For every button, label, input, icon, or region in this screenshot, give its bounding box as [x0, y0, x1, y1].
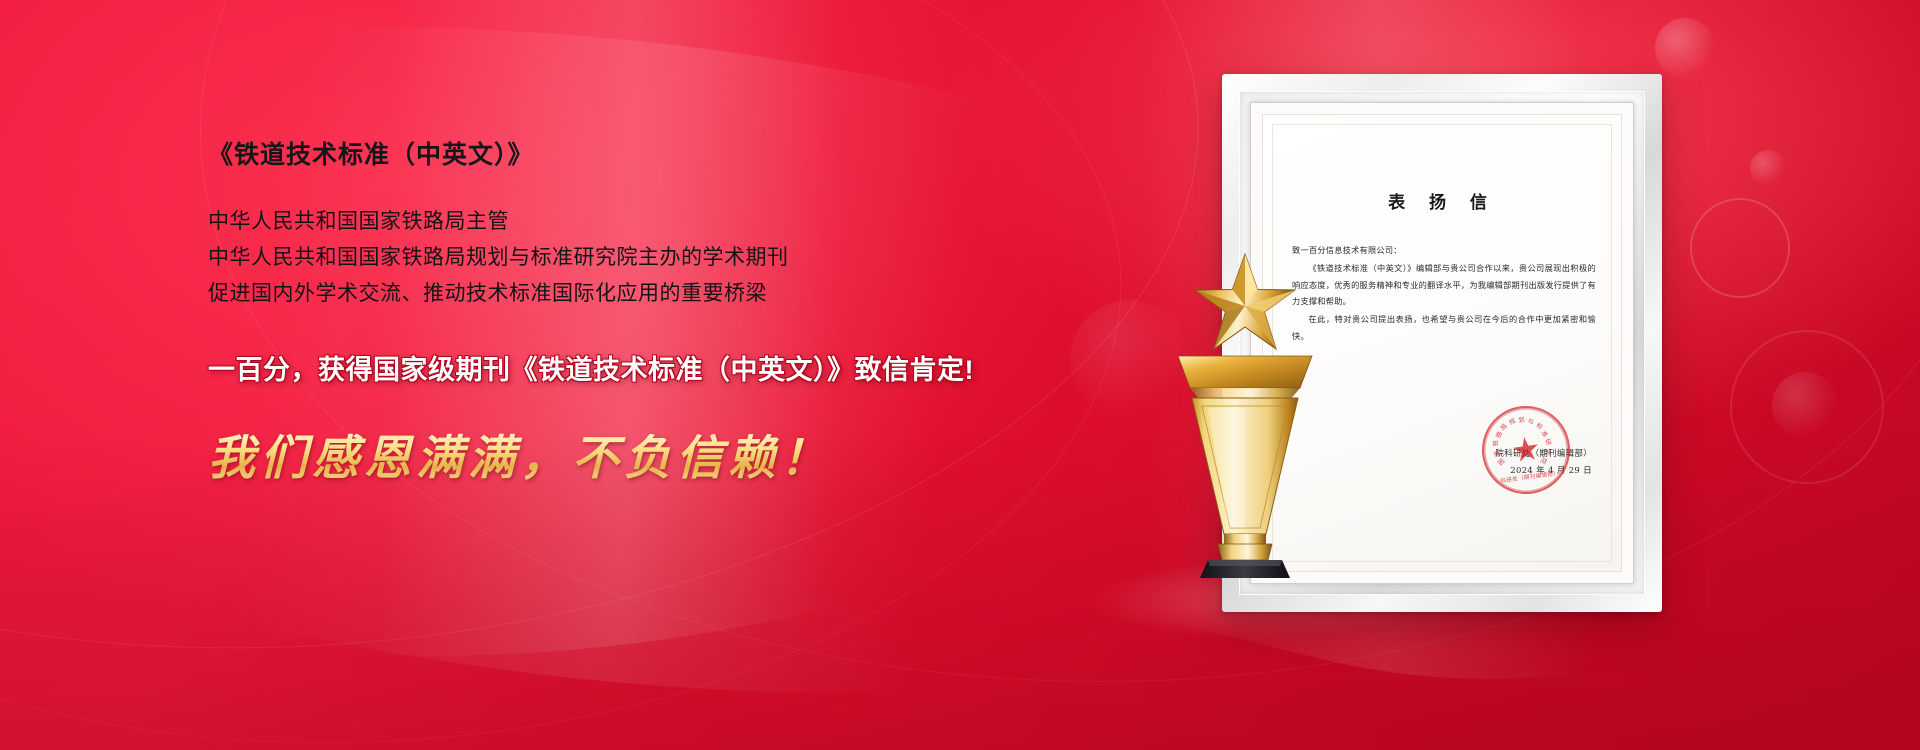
- seal-arc-char: 路: [1493, 429, 1504, 438]
- description-line: 中华人民共和国国家铁路局主管: [208, 204, 1068, 240]
- seal-arc-char: 究: [1543, 448, 1553, 456]
- promo-banner: 《铁道技术标准（中英文）》 中华人民共和国国家铁路局主管 中华人民共和国国家铁路…: [0, 0, 1920, 750]
- bokeh-circle-1: [1655, 18, 1715, 78]
- journal-description: 中华人民共和国国家铁路局主管 中华人民共和国国家铁路局规划与标准研究院主办的学术…: [208, 204, 1068, 312]
- seal-arc-char: 与: [1527, 416, 1536, 426]
- bokeh-circle-5: [1772, 372, 1838, 438]
- journal-title: 《铁道技术标准（中英文）》: [208, 140, 1068, 170]
- certificate-title: 表 扬 信: [1262, 188, 1622, 213]
- trophy-star-icon: [1150, 248, 1340, 578]
- bokeh-circle-2: [1750, 150, 1786, 186]
- banner-copy: 《铁道技术标准（中英文）》 中华人民共和国国家铁路局主管 中华人民共和国国家铁路…: [208, 140, 1068, 486]
- bokeh-circle-3: [1690, 198, 1790, 298]
- seal-arc-char: 划: [1518, 414, 1526, 424]
- seal-arc-char: 院: [1539, 456, 1550, 466]
- seal-arc-char: 国: [1495, 456, 1506, 467]
- description-line: 促进国内外学术交流、推动技术标准国际化应用的重要桥梁: [208, 276, 1068, 312]
- bokeh-circle-4: [1730, 330, 1884, 484]
- banner-headline: 一百分，获得国家级期刊《铁道技术标准（中英文）》致信肯定!: [208, 354, 1068, 388]
- seal-arc-char: 规: [1507, 416, 1517, 427]
- seal-arc-char: 研: [1543, 438, 1553, 447]
- official-seal-icon: 国家铁路局规划与标准研究院 科研处（期刊编辑部）: [1476, 400, 1575, 499]
- description-line: 中华人民共和国国家铁路局规划与标准研究院主办的学术期刊: [208, 240, 1068, 276]
- seal-arc-char: 铁: [1491, 440, 1500, 447]
- banner-slogan: 我们感恩满满，不负信赖！: [208, 432, 1068, 486]
